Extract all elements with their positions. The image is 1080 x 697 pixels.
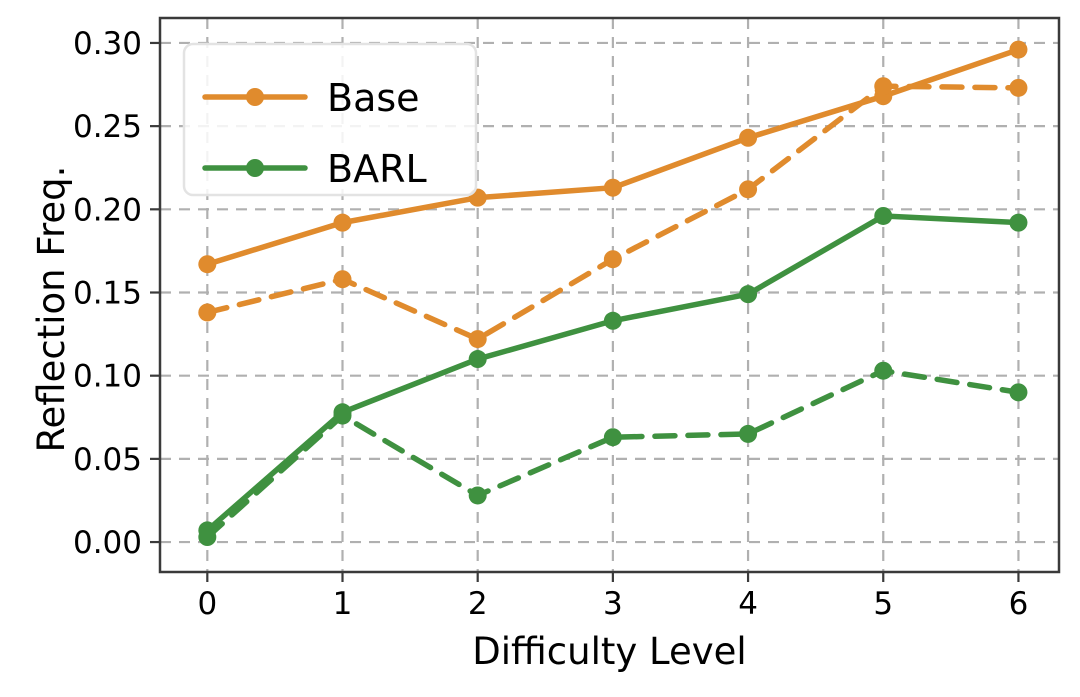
data-point xyxy=(604,179,622,197)
data-point xyxy=(604,250,622,268)
data-point xyxy=(604,312,622,330)
data-point xyxy=(1009,79,1027,97)
data-point xyxy=(1009,383,1027,401)
y-tick-label-4: 0.20 xyxy=(73,192,142,228)
data-point xyxy=(604,428,622,446)
x-tick-label-1: 1 xyxy=(333,586,353,622)
data-point xyxy=(739,425,757,443)
x-tick-label-5: 5 xyxy=(873,586,893,622)
y-tick-label-0: 0.00 xyxy=(73,525,142,561)
x-axis-ticks xyxy=(207,572,1018,582)
y-tick-label-2: 0.10 xyxy=(73,359,142,395)
x-tick-label-0: 0 xyxy=(197,586,217,622)
x-axis-tick-labels: 0123456 xyxy=(197,586,1028,622)
x-tick-label-3: 3 xyxy=(603,586,623,622)
data-point xyxy=(874,77,892,95)
data-point xyxy=(469,486,487,504)
chart-legend: BaseBARL xyxy=(184,44,476,195)
data-point xyxy=(334,214,352,232)
x-tick-label-4: 4 xyxy=(738,586,758,622)
reflection-frequency-line-chart: 0123456 0.000.050.100.150.200.250.30 Bas… xyxy=(0,0,1080,697)
data-point xyxy=(469,350,487,368)
data-point xyxy=(469,330,487,348)
data-point xyxy=(739,285,757,303)
x-axis-label: Difficulty Level xyxy=(0,630,1080,673)
data-point xyxy=(334,270,352,288)
data-point xyxy=(1009,214,1027,232)
legend-label-barl: BARL xyxy=(327,147,427,191)
data-point xyxy=(874,362,892,380)
data-point xyxy=(198,528,216,546)
legend-marker-barl xyxy=(246,159,264,177)
data-point xyxy=(1009,41,1027,59)
legend-marker-base xyxy=(246,88,264,106)
data-point xyxy=(739,180,757,198)
data-point xyxy=(874,207,892,225)
y-tick-label-3: 0.15 xyxy=(73,276,142,312)
data-point xyxy=(198,303,216,321)
y-tick-label-1: 0.05 xyxy=(73,442,142,478)
y-axis-ticks xyxy=(150,43,160,542)
legend-label-base: Base xyxy=(327,76,420,120)
x-tick-label-2: 2 xyxy=(468,586,488,622)
y-tick-label-6: 0.30 xyxy=(73,26,142,62)
y-axis-tick-labels: 0.000.050.100.150.200.250.30 xyxy=(73,26,142,561)
x-tick-label-6: 6 xyxy=(1009,586,1029,622)
data-point xyxy=(334,407,352,425)
y-axis-label: Reflection Freq. xyxy=(30,166,73,453)
y-tick-label-5: 0.25 xyxy=(73,109,142,145)
data-point xyxy=(198,255,216,273)
data-point xyxy=(739,129,757,147)
chart-figure: 0123456 0.000.050.100.150.200.250.30 Bas… xyxy=(0,0,1080,697)
